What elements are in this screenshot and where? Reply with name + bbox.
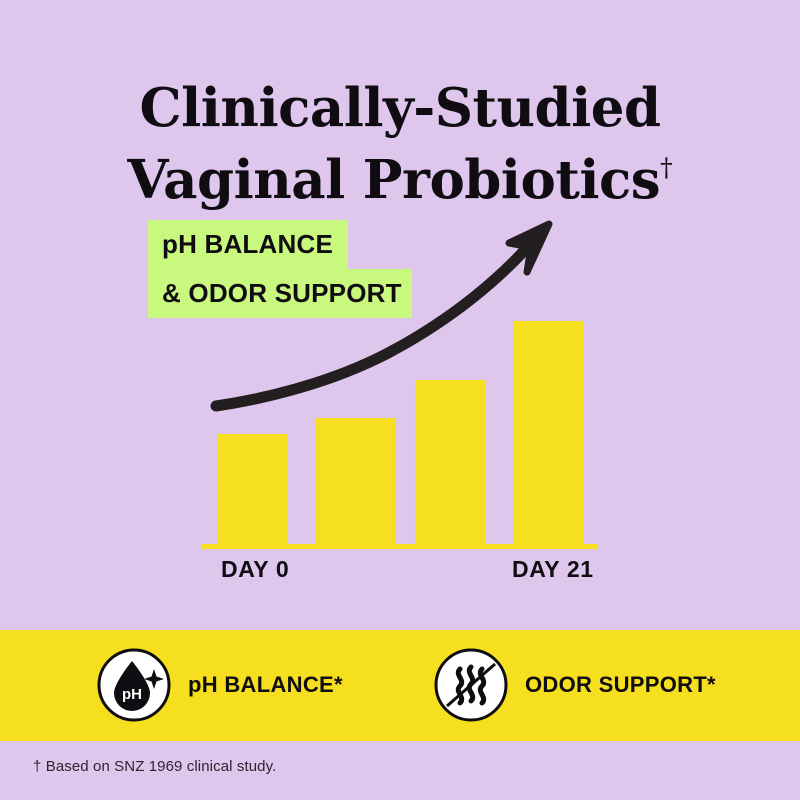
badge-line-2: & ODOR SUPPORT [148, 269, 412, 318]
chart-baseline [202, 544, 598, 549]
bar-day-0 [218, 434, 287, 544]
benefit-highlight-badge: pH BALANCE & ODOR SUPPORT [148, 220, 412, 318]
ph-droplet-label: pH [122, 686, 142, 703]
benefit-label-ph-balance: pH BALANCE* [188, 672, 343, 698]
benefit-odor-support: ODOR SUPPORT* [433, 647, 716, 723]
bar-day-21 [514, 321, 584, 544]
benefit-label-odor-support: ODOR SUPPORT* [525, 672, 716, 698]
footnote: † Based on SNZ 1969 clinical study. [33, 758, 276, 775]
bar-day-14 [415, 380, 485, 544]
bar-day-7 [315, 418, 395, 544]
promo-poster: Clinically-Studied Vaginal Probiotics† p… [0, 0, 800, 800]
ph-droplet-icon: pH [96, 647, 172, 723]
axis-tick-day-21: DAY 21 [512, 556, 594, 583]
axis-tick-day-0: DAY 0 [221, 556, 289, 583]
benefit-ph-balance: pH pH BALANCE* [96, 647, 343, 723]
no-odor-waves-icon [433, 647, 509, 723]
badge-line-1: pH BALANCE [148, 220, 348, 269]
